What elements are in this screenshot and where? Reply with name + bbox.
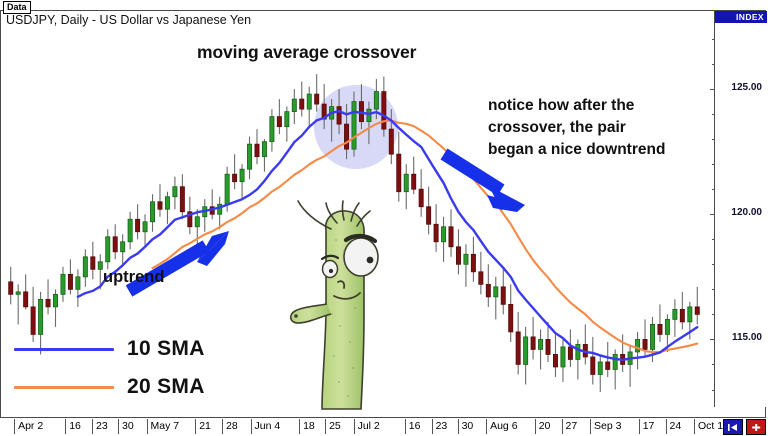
- legend-item-sma10: 10 SMA: [14, 330, 205, 368]
- chart-screenshot: Data USDJPY, Daily - US Dollar vs Japane…: [0, 0, 768, 436]
- date-tick-label: Aug 6: [486, 419, 517, 434]
- date-tick-label: Jun 4: [251, 419, 281, 434]
- date-tick-label: May 7: [147, 419, 180, 434]
- chart-title: USDJPY, Daily - US Dollar vs Japanese Ye…: [6, 13, 251, 27]
- legend-swatch-sma20: [14, 386, 114, 389]
- legend-label-sma20: 20 SMA: [127, 375, 205, 399]
- date-tick-label: Sep 3: [590, 419, 621, 434]
- legend-label-sma10: 10 SMA: [127, 337, 205, 361]
- date-tick-label: 25: [325, 419, 341, 434]
- date-tick-label: 18: [299, 419, 315, 434]
- date-tick-label: 23: [432, 419, 448, 434]
- downtrend-arrow: [444, 154, 525, 212]
- date-tick-label: 16: [65, 419, 81, 434]
- mascot-big-eye: [344, 238, 378, 276]
- annotation-downtrend-line-3: began a nice downtrend: [488, 139, 665, 161]
- annotation-downtrend-line-1: notice how after the: [488, 95, 665, 117]
- pickle-mascot: [282, 196, 402, 411]
- date-tick-label: 23: [92, 419, 108, 434]
- date-tick-label: Oct 1: [694, 419, 723, 434]
- mascot-hand-dot: [294, 314, 298, 318]
- date-tick-label: 20: [535, 419, 551, 434]
- annotation-crossover: moving average crossover: [197, 42, 416, 63]
- plus-icon: [751, 423, 762, 432]
- legend-swatch-sma10: [14, 348, 114, 351]
- date-tick-label: 17: [639, 419, 655, 434]
- date-tick-label: 16: [405, 419, 421, 434]
- date-axis[interactable]: Apr 2162330May 72128Jun 41825Jul 2162330…: [0, 418, 766, 436]
- annotation-downtrend-line-2: crossover, the pair: [488, 117, 665, 139]
- chart-toolbar[interactable]: [723, 419, 766, 435]
- date-tick-label: 28: [222, 419, 238, 434]
- annotation-uptrend: uptrend: [103, 268, 164, 287]
- mascot-arm: [291, 304, 331, 323]
- mascot-small-eye: [323, 261, 338, 278]
- date-tick-label: 24: [666, 419, 682, 434]
- date-tick-label: Jul 2: [354, 419, 380, 434]
- go-to-start-button[interactable]: [723, 419, 743, 435]
- zoom-in-button[interactable]: [746, 419, 766, 435]
- date-tick-label: 27: [562, 419, 578, 434]
- first-arrow-icon: [727, 423, 739, 432]
- price-axis[interactable]: INDEX 125.00120.00115.00: [714, 11, 766, 407]
- annotation-downtrend: notice how after the crossover, the pair…: [488, 95, 665, 161]
- date-tick-label: Apr 2: [14, 419, 43, 434]
- price-axis-header: INDEX: [715, 11, 767, 23]
- data-tab[interactable]: Data: [3, 1, 31, 14]
- legend-item-sma20: 20 SMA: [14, 368, 205, 406]
- mascot-small-pupil: [329, 269, 333, 273]
- date-tick-label: 30: [118, 419, 134, 434]
- mascot-big-pupil: [367, 257, 374, 264]
- chart-legend: 10 SMA 20 SMA: [14, 330, 205, 406]
- date-tick-label: 30: [458, 419, 474, 434]
- date-tick-label: 21: [195, 419, 211, 434]
